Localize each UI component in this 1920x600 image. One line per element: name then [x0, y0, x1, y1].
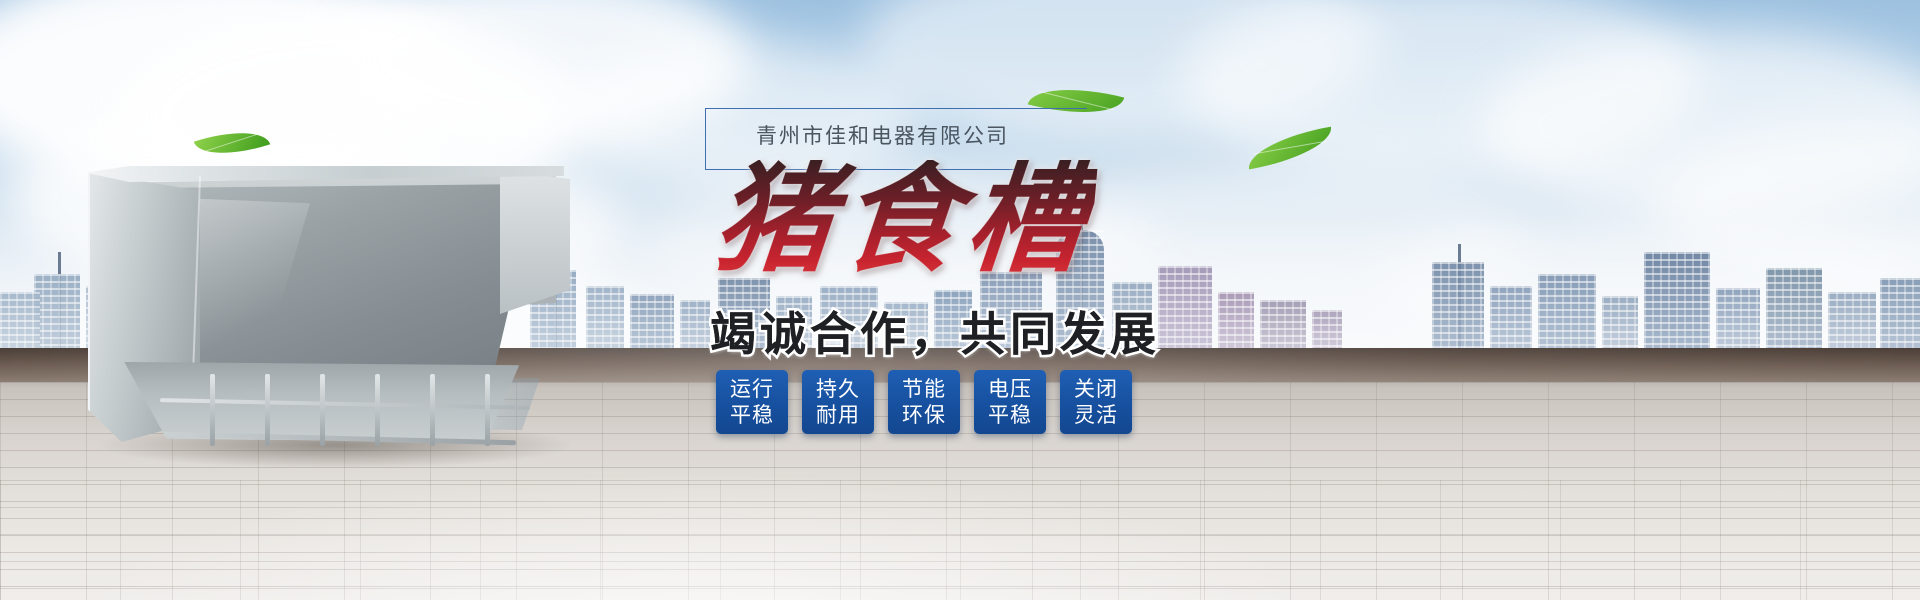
badge-line-1: 节能 [902, 376, 946, 402]
badge-line-2: 环保 [902, 402, 946, 428]
feature-badge[interactable]: 关闭 灵活 [1060, 370, 1132, 434]
feature-badge[interactable]: 节能 环保 [888, 370, 960, 434]
product-image-feeder-trough [60, 150, 580, 480]
trough-divider [375, 374, 380, 446]
promo-banner: 青州市佳和电器有限公司 猪食槽 竭诚合作，共同发展 竭诚合作，共同发展 运行 平… [0, 0, 1920, 600]
feature-badge[interactable]: 持久 耐用 [802, 370, 874, 434]
badge-line-2: 平稳 [730, 402, 774, 428]
page-title: 猪食槽 [710, 160, 1098, 278]
trough-divider [265, 374, 270, 446]
badge-line-1: 持久 [816, 376, 860, 402]
badge-line-2: 耐用 [816, 402, 860, 428]
trough-divider [320, 374, 325, 446]
feature-badge[interactable]: 电压 平稳 [974, 370, 1046, 434]
trough-divider [210, 374, 215, 446]
badge-line-1: 运行 [730, 376, 774, 402]
badge-line-1: 关闭 [1074, 376, 1118, 402]
trough-right-rim [500, 170, 570, 320]
badge-line-1: 电压 [988, 376, 1032, 402]
company-name: 青州市佳和电器有限公司 [756, 120, 1009, 150]
trough-divider [430, 374, 435, 446]
badge-line-2: 平稳 [988, 402, 1032, 428]
subtitle: 竭诚合作，共同发展 [710, 298, 1160, 364]
feature-badge[interactable]: 运行 平稳 [716, 370, 788, 434]
feature-badge-list: 运行 平稳 持久 耐用 节能 环保 电压 平稳 关闭 灵活 [716, 370, 1132, 434]
banner-copy-block: 青州市佳和电器有限公司 猪食槽 竭诚合作，共同发展 竭诚合作，共同发展 运行 平… [700, 100, 1220, 480]
badge-line-2: 灵活 [1074, 402, 1118, 428]
trough-divider [485, 374, 490, 446]
